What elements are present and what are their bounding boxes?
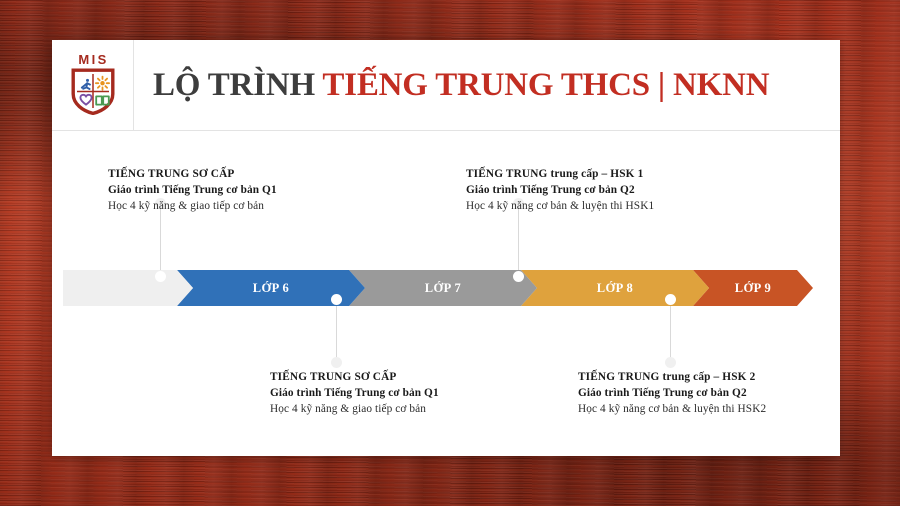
milestone-dot-on-bar: [331, 294, 342, 305]
milestone-dot-on-bar: [665, 294, 676, 305]
milestone-connector-line: [670, 300, 671, 362]
logo-wordmark: MIS: [66, 53, 120, 67]
milestone-title: TIẾNG TRUNG trung cấp – HSK 2: [578, 369, 766, 385]
milestone-description: Học 4 kỹ năng & giao tiếp cơ bản: [270, 401, 439, 417]
milestone-connector-line: [336, 300, 337, 362]
timeline-segment-start[interactable]: [63, 270, 193, 306]
milestone-text-block: TIẾNG TRUNG SƠ CẤPGiáo trình Tiếng Trung…: [270, 369, 439, 417]
timeline-segment-label: LỚP 8: [597, 281, 633, 296]
milestone-coursebook: Giáo trình Tiếng Trung cơ bản Q1: [270, 385, 439, 401]
milestone-text-block: TIẾNG TRUNG trung cấp – HSK 2Giáo trình …: [578, 369, 766, 417]
title-part-dark: LỘ TRÌNH: [153, 67, 322, 103]
milestone-description: Học 4 kỹ năng cơ bản & luyện thi HSK1: [466, 198, 654, 214]
slide-header: MIS: [52, 40, 840, 131]
milestone-text-block: TIẾNG TRUNG SƠ CẤPGiáo trình Tiếng Trung…: [108, 166, 277, 214]
milestone-title: TIẾNG TRUNG SƠ CẤP: [270, 369, 439, 385]
milestone-title: TIẾNG TRUNG trung cấp – HSK 1: [466, 166, 654, 182]
milestone-text-block: TIẾNG TRUNG trung cấp – HSK 1Giáo trình …: [466, 166, 654, 214]
milestone-dot-on-bar: [513, 271, 524, 282]
timeline-segment-lop-9[interactable]: LỚP 9: [693, 270, 813, 306]
timeline-bar: LỚP 6LỚP 7LỚP 8LỚP 9: [63, 270, 813, 306]
milestone-description: Học 4 kỹ năng & giao tiếp cơ bản: [108, 198, 277, 214]
title-part-red: TIẾNG TRUNG THCS | NKNN: [322, 67, 769, 103]
milestone-dot-near-text: [665, 357, 676, 368]
shield-icon: [71, 68, 115, 115]
milestone-coursebook: Giáo trình Tiếng Trung cơ bản Q2: [466, 182, 654, 198]
mis-shield-logo: MIS: [66, 53, 120, 117]
logo-cell: MIS: [52, 40, 134, 131]
timeline-segment-label: LỚP 7: [425, 281, 461, 296]
sun-icon: [95, 77, 108, 90]
milestone-dot-on-bar: [155, 271, 166, 282]
milestone-title: TIẾNG TRUNG SƠ CẤP: [108, 166, 277, 182]
timeline-segment-label: LỚP 6: [253, 281, 289, 296]
slide-card: MIS: [52, 40, 840, 456]
page-title: LỘ TRÌNH TIẾNG TRUNG THCS | NKNN: [134, 69, 769, 102]
milestone-dot-near-text: [331, 357, 342, 368]
milestone-description: Học 4 kỹ năng cơ bản & luyện thi HSK2: [578, 401, 766, 417]
milestone-coursebook: Giáo trình Tiếng Trung cơ bản Q2: [578, 385, 766, 401]
timeline-segment-lop-7[interactable]: LỚP 7: [349, 270, 537, 306]
milestone-coursebook: Giáo trình Tiếng Trung cơ bản Q1: [108, 182, 277, 198]
timeline-segment-label: LỚP 9: [735, 281, 771, 296]
timeline-segment-lop-8[interactable]: LỚP 8: [521, 270, 709, 306]
